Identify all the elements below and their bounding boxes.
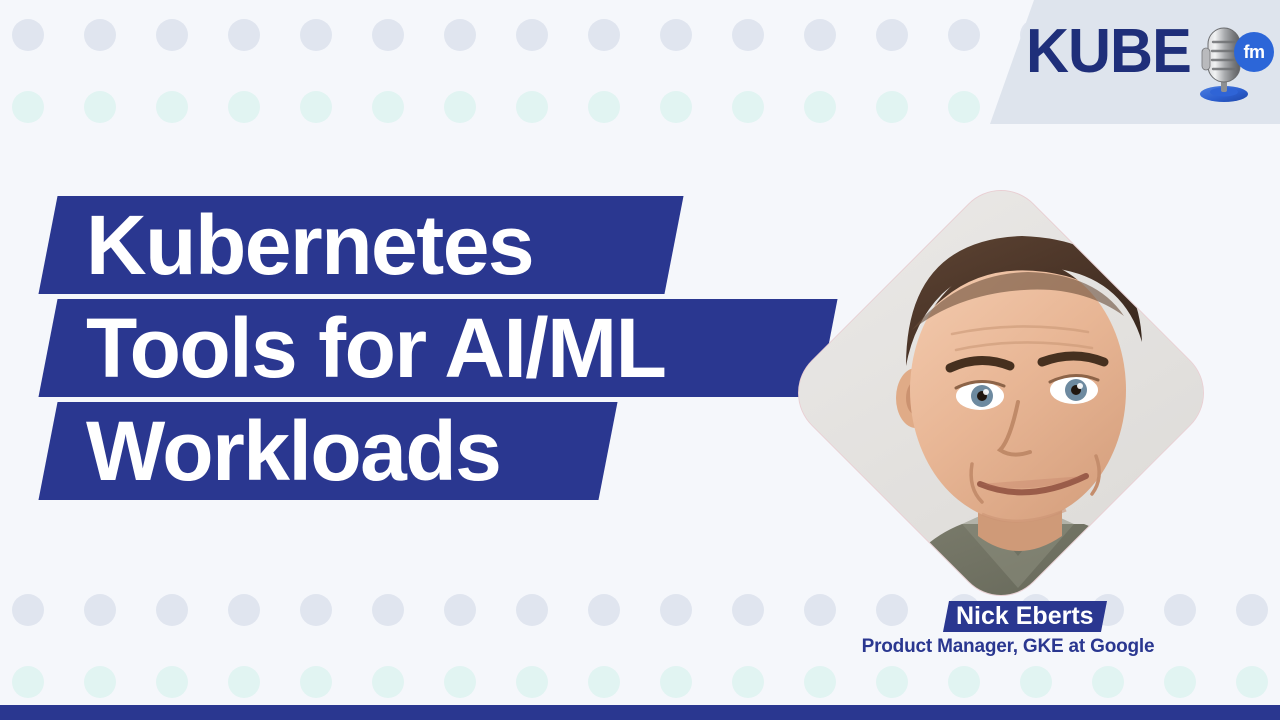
background-dot xyxy=(228,91,260,123)
background-dot xyxy=(444,666,476,698)
title-line-1-text: Kubernetes xyxy=(48,196,674,294)
background-dot xyxy=(12,19,44,51)
background-dot xyxy=(372,91,404,123)
background-dot xyxy=(444,91,476,123)
background-dot xyxy=(228,594,260,626)
background-dot xyxy=(1020,666,1052,698)
background-dot xyxy=(804,666,836,698)
background-dot xyxy=(156,666,188,698)
title-line-1: Kubernetes xyxy=(38,196,683,294)
speaker-role-row: Product Manager, GKE at Google xyxy=(0,636,1280,658)
background-dot xyxy=(804,91,836,123)
background-dot xyxy=(1236,666,1268,698)
background-dot xyxy=(732,19,764,51)
background-dot xyxy=(372,594,404,626)
background-dot xyxy=(588,594,620,626)
background-dot xyxy=(732,666,764,698)
background-dot xyxy=(732,91,764,123)
background-dot xyxy=(1164,594,1196,626)
speaker-name-text: Nick Eberts xyxy=(956,601,1094,632)
background-dot xyxy=(444,19,476,51)
background-dot xyxy=(84,594,116,626)
fm-badge: fm xyxy=(1234,32,1274,72)
background-dot xyxy=(84,19,116,51)
speaker-role-text: Product Manager, GKE at Google xyxy=(862,636,1155,658)
background-dot xyxy=(516,91,548,123)
background-dot xyxy=(1092,666,1124,698)
title-line-2: Tools for AI/ML xyxy=(38,299,837,397)
background-dot xyxy=(732,594,764,626)
background-dot xyxy=(516,594,548,626)
background-dot xyxy=(876,594,908,626)
background-dot xyxy=(444,594,476,626)
background-dot xyxy=(12,594,44,626)
background-dot xyxy=(372,666,404,698)
background-dot xyxy=(300,666,332,698)
background-dot xyxy=(804,19,836,51)
background-dot xyxy=(228,666,260,698)
background-dot xyxy=(228,19,260,51)
background-dot xyxy=(516,666,548,698)
video-title: Kubernetes Tools for AI/ML Workloads xyxy=(0,196,880,505)
background-dot xyxy=(588,666,620,698)
background-dot xyxy=(1236,594,1268,626)
speaker-name-banner: Nick Eberts xyxy=(943,601,1107,632)
background-dot xyxy=(948,19,980,51)
background-dot xyxy=(372,19,404,51)
title-line-2-text: Tools for AI/ML xyxy=(48,299,828,397)
background-dot xyxy=(804,594,836,626)
bottom-accent-bar xyxy=(0,705,1280,720)
background-dot xyxy=(660,19,692,51)
background-dot xyxy=(156,594,188,626)
background-dot xyxy=(300,594,332,626)
background-dot xyxy=(660,594,692,626)
background-dot xyxy=(516,19,548,51)
thumbnail-canvas: KUBE xyxy=(0,0,1280,720)
background-dot xyxy=(1164,666,1196,698)
background-dot xyxy=(588,19,620,51)
title-line-3: Workloads xyxy=(38,402,617,500)
background-dot xyxy=(12,666,44,698)
background-dot xyxy=(300,91,332,123)
background-dot xyxy=(660,91,692,123)
background-dot xyxy=(876,19,908,51)
background-dot xyxy=(156,91,188,123)
background-dot xyxy=(300,19,332,51)
background-dot xyxy=(588,91,620,123)
title-line-3-text: Workloads xyxy=(48,402,608,500)
background-dot xyxy=(876,91,908,123)
background-dot xyxy=(12,91,44,123)
logo-wordmark: KUBE xyxy=(1026,20,1191,84)
background-dot xyxy=(948,666,980,698)
kube-fm-logo: KUBE xyxy=(1022,16,1272,108)
background-dot xyxy=(948,91,980,123)
background-dot xyxy=(84,666,116,698)
background-dot xyxy=(660,666,692,698)
background-dot xyxy=(156,19,188,51)
background-dot xyxy=(84,91,116,123)
background-dot xyxy=(876,666,908,698)
